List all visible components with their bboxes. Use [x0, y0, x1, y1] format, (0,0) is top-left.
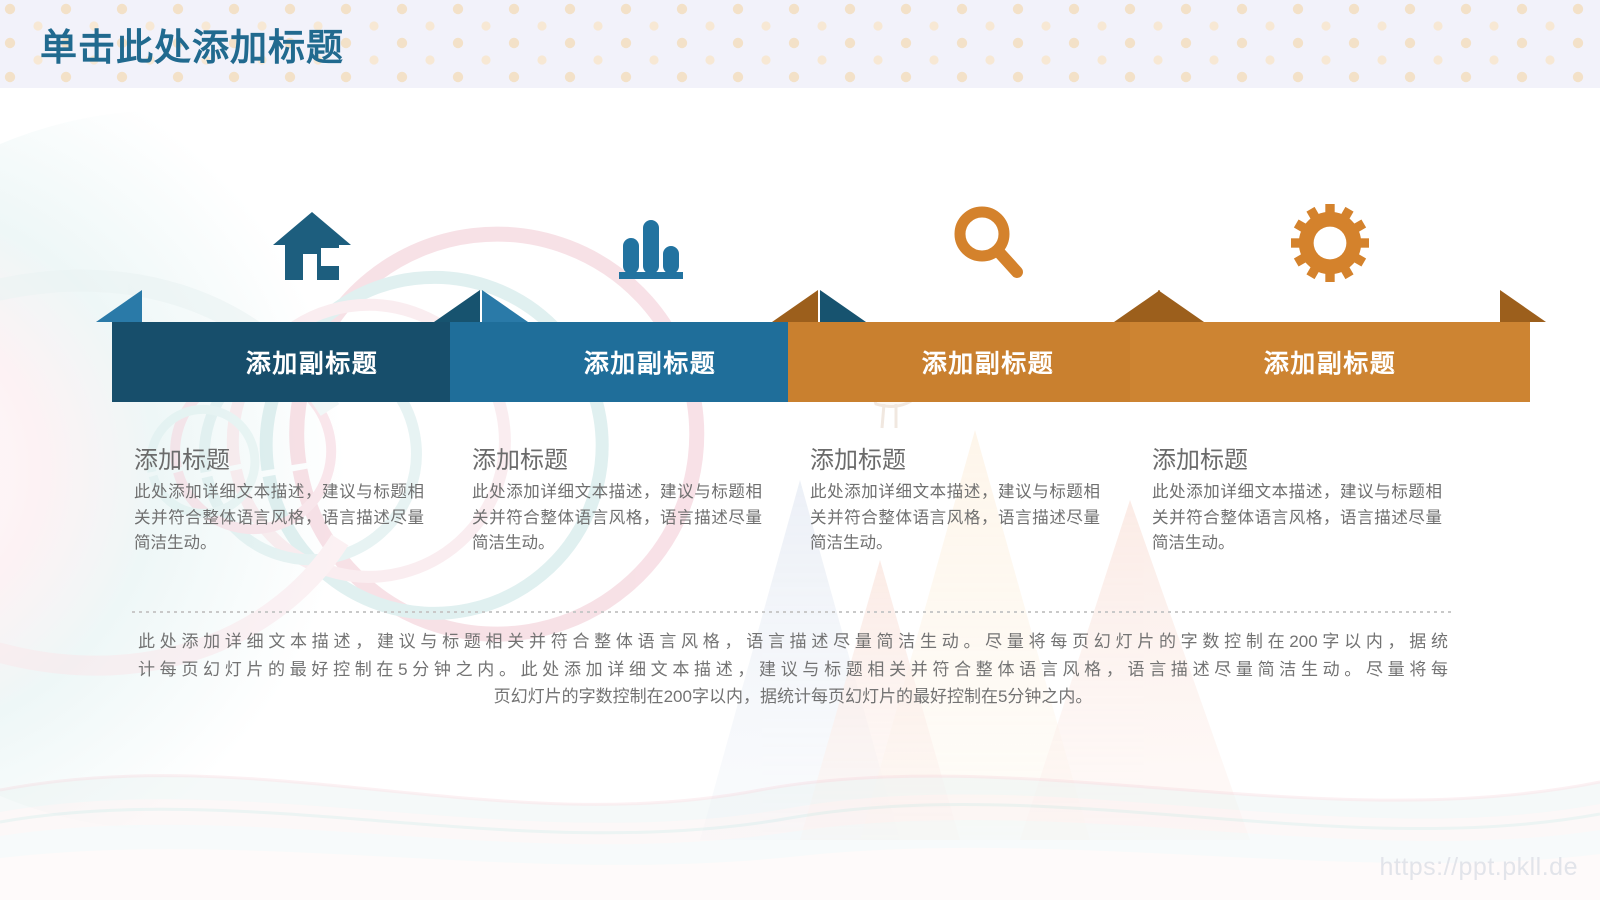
content-column-4[interactable]: 添加副标题 添加标题 此处添加详细文本描述，建议与标题相关并符合整体语言风格，语…: [1130, 190, 1530, 557]
footer-paragraph: 此处添加详细文本描述，建议与标题相关并符合整体语言风格，语言描述尽量简洁生动。尽…: [138, 628, 1448, 711]
content-column-3[interactable]: 添加副标题 添加标题 此处添加详细文本描述，建议与标题相关并符合整体语言风格，语…: [788, 190, 1188, 557]
column-heading: 添加标题: [1152, 446, 1530, 476]
banner-tail-right: [1500, 290, 1546, 322]
site-url-watermark: https://ppt.pkll.de: [1379, 853, 1578, 882]
gear-icon: [1130, 190, 1530, 282]
banner-3[interactable]: 添加副标题: [788, 290, 1188, 402]
column-body-text: 此处添加详细文本描述，建议与标题相关并符合整体语言风格，语言描述尽量简洁生动。: [810, 480, 1100, 557]
column-text-block: 添加标题 此处添加详细文本描述，建议与标题相关并符合整体语言风格，语言描述尽量简…: [788, 446, 1188, 557]
banner-label: 添加副标题: [584, 344, 717, 380]
footer-paragraph-line-1: 此处添加详细文本描述，建议与标题相关并符合整体语言风格，语言描述尽量简洁生动。尽…: [138, 628, 1448, 656]
content-columns: 添加副标题 添加标题 此处添加详细文本描述，建议与标题相关并符合整体语言风格，语…: [0, 0, 1600, 900]
column-body-text: 此处添加详细文本描述，建议与标题相关并符合整体语言风格，语言描述尽量简洁生动。: [1152, 480, 1442, 557]
footer-paragraph-line-3: 页幻灯片的字数控制在200字以内，据统计每页幻灯片的最好控制在5分钟之内。: [138, 683, 1448, 711]
banner-label: 添加副标题: [246, 344, 379, 380]
column-text-block: 添加标题 此处添加详细文本描述，建议与标题相关并符合整体语言风格，语言描述尽量简…: [1130, 446, 1530, 557]
dotted-divider: [132, 611, 1454, 613]
banner-body[interactable]: 添加副标题: [788, 322, 1188, 402]
banner-label: 添加副标题: [1264, 344, 1397, 380]
column-body-text: 此处添加详细文本描述，建议与标题相关并符合整体语言风格，语言描述尽量简洁生动。: [134, 480, 424, 557]
footer-paragraph-line-2: 计每页幻灯片的最好控制在5分钟之内。此处添加详细文本描述，建议与标题相关并符合整…: [138, 656, 1448, 684]
banner-body[interactable]: 添加副标题: [1130, 322, 1530, 402]
banner-4[interactable]: 添加副标题: [1130, 290, 1530, 402]
search-icon: [788, 190, 1188, 282]
banner-tail-left: [96, 290, 142, 322]
banner-label: 添加副标题: [922, 344, 1055, 380]
column-body-text: 此处添加详细文本描述，建议与标题相关并符合整体语言风格，语言描述尽量简洁生动。: [472, 480, 762, 557]
slide-canvas: 单击此处添加标题 添加副标题 添加标题 此处添加详细文本描述，建议与标题相关并符…: [0, 0, 1600, 900]
